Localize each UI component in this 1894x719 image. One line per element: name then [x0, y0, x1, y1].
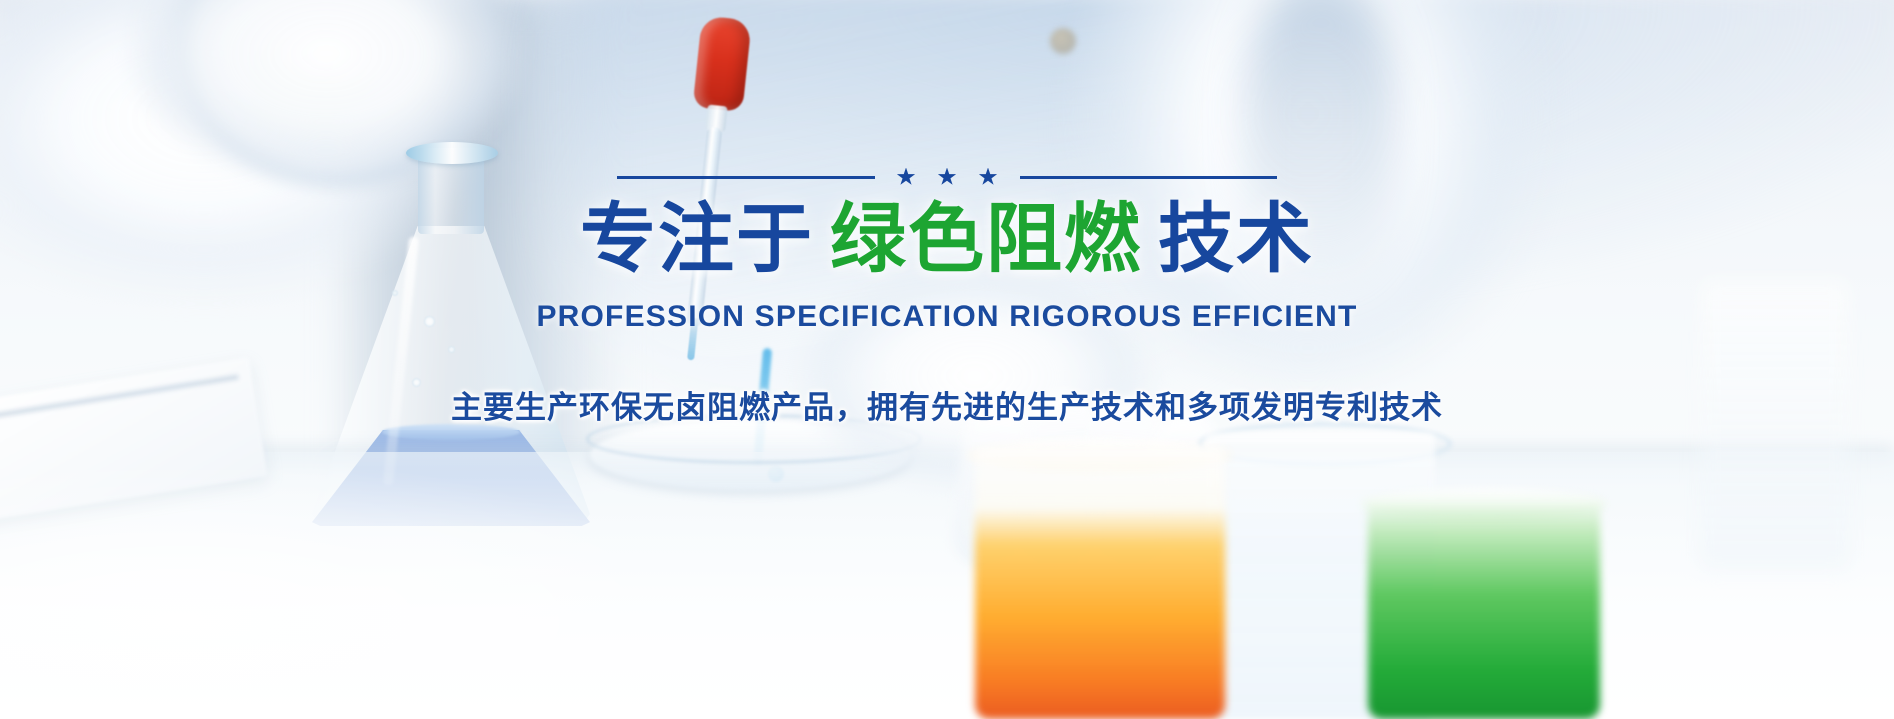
headline-part-2: 绿色阻燃: [830, 202, 1142, 278]
banner-headline: 专注于 绿色阻燃 技术: [580, 202, 1314, 278]
headline-part-3: 技术: [1158, 202, 1314, 278]
decorative-divider: [617, 168, 1277, 186]
divider-rule-left: [617, 176, 875, 179]
star-icon: [897, 168, 916, 187]
headline-part-1: 专注于: [580, 202, 814, 278]
banner-content: 专注于 绿色阻燃 技术 PROFESSION SPECIFICATION RIG…: [0, 0, 1894, 719]
star-icon: [938, 168, 957, 187]
divider-stars: [875, 168, 1020, 187]
banner-subheadline: PROFESSION SPECIFICATION RIGOROUS EFFICI…: [536, 300, 1357, 334]
banner-tagline: 主要生产环保无卤阻燃产品，拥有先进的生产技术和多项发明专利技术: [451, 382, 1443, 427]
divider-rule-right: [1020, 176, 1278, 179]
star-icon: [979, 168, 998, 187]
hero-banner: 专注于 绿色阻燃 技术 PROFESSION SPECIFICATION RIG…: [0, 0, 1894, 719]
